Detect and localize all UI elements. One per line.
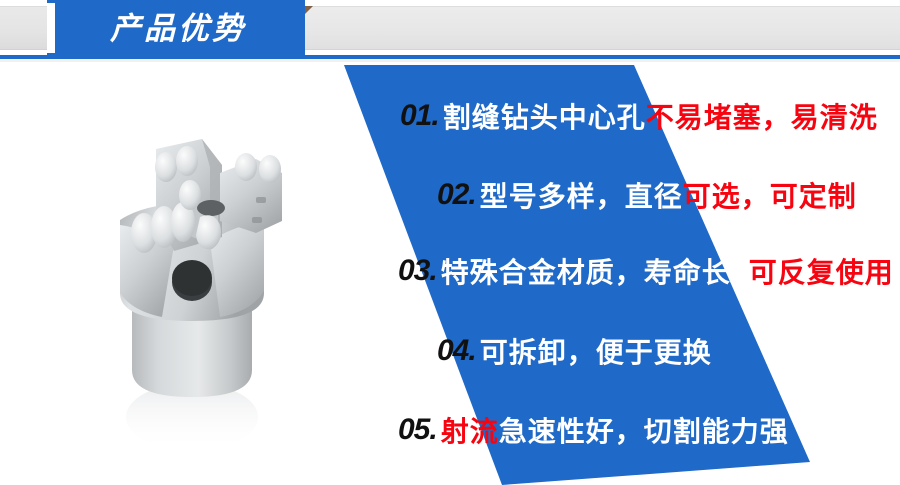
feature-item-02: 02. 型号多样，直径 可选，可定制 bbox=[437, 172, 857, 218]
feature-item-03: 03. 特殊合金材质，寿命长 可反复使用 bbox=[398, 248, 894, 294]
feature-text-highlight: 不易堵塞，易清洗 bbox=[646, 96, 878, 136]
feature-item-01: 01. 割缝钻头中心孔 不易堵塞，易清洗 bbox=[400, 93, 878, 139]
feature-text-highlight: 可选，可定制 bbox=[683, 175, 857, 215]
feature-number: 03. bbox=[398, 254, 437, 288]
feature-text-white: 急速性好，切割能力强 bbox=[499, 410, 789, 450]
product-advantages-banner: 产品优势 bbox=[0, 0, 900, 485]
feature-text-white: 特殊合金材质，寿命长 bbox=[441, 251, 731, 291]
feature-text-white: 型号多样，直径 bbox=[480, 175, 683, 215]
feature-text-white: 割缝钻头中心孔 bbox=[443, 96, 646, 136]
feature-number: 05. bbox=[398, 413, 437, 447]
feature-item-04: 04. 可拆卸，便于更换 bbox=[437, 328, 712, 374]
feature-text-white: 可拆卸，便于更换 bbox=[480, 331, 712, 371]
feature-number: 02. bbox=[437, 178, 476, 212]
feature-number: 04. bbox=[437, 334, 476, 368]
feature-number: 01. bbox=[400, 99, 439, 133]
feature-list: 01. 割缝钻头中心孔 不易堵塞，易清洗 02. 型号多样，直径 可选，可定制 … bbox=[0, 0, 900, 485]
feature-text-highlight: 可反复使用 bbox=[749, 251, 894, 291]
feature-item-05: 05. 射流 急速性好，切割能力强 bbox=[398, 407, 789, 453]
feature-text-highlight: 射流 bbox=[441, 410, 499, 450]
